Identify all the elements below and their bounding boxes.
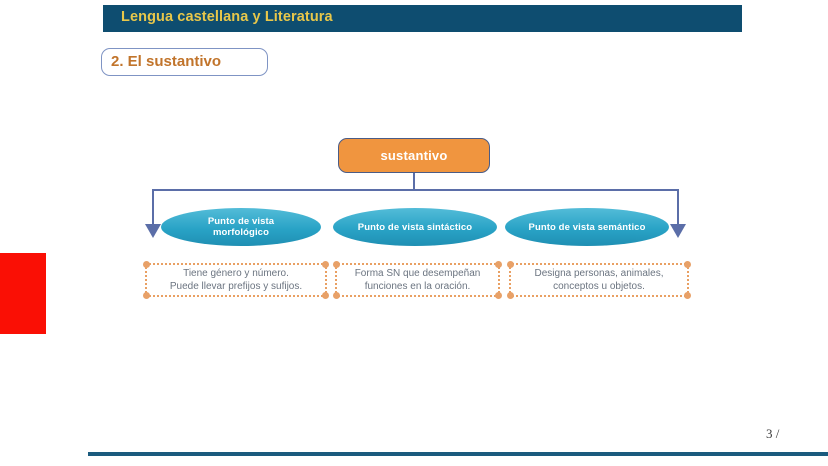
branch-detail-line1: Designa personas, animales, (535, 268, 664, 279)
detail-corner-dot (507, 261, 514, 268)
branch-ellipse-sintactico: Punto de vista sintáctico (333, 208, 497, 246)
red-marker-block (0, 253, 46, 334)
branch-ellipse-label-line1: Punto de vista semántico (529, 222, 646, 233)
branch-ellipse-label: Punto de vista morfológico (208, 216, 274, 238)
branch-detail-semantico: Designa personas, animales, conceptos u … (509, 263, 689, 297)
detail-corner-dot (507, 292, 514, 299)
detail-corner-dot (143, 261, 150, 268)
page-number-indicator: 3 / (766, 426, 779, 442)
branch-ellipse-semantico: Punto de vista semántico (505, 208, 669, 246)
branch-detail-text: Forma SN que desempeñan funciones en la … (355, 267, 481, 293)
detail-corner-dot (333, 261, 340, 268)
branch-ellipse-morfologico: Punto de vista morfológico (161, 208, 321, 246)
section-title-box: 2. El sustantivo (101, 48, 268, 76)
branch-ellipse-label-line1: Punto de vista sintáctico (358, 222, 472, 233)
connector-horizontal-bus (152, 189, 679, 191)
detail-corner-dot (322, 292, 329, 299)
connector-stem (413, 173, 415, 190)
detail-corner-dot (684, 261, 691, 268)
branch-detail-line1: Forma SN que desempeñan (355, 268, 481, 279)
arrow-down-right-icon (670, 224, 686, 238)
diagram-root-node: sustantivo (338, 138, 490, 173)
arrow-down-left-icon (145, 224, 161, 238)
detail-corner-dot (495, 261, 502, 268)
connector-left-drop (152, 189, 154, 225)
branch-detail-line2: funciones en la oración. (365, 281, 471, 292)
branch-detail-text: Designa personas, animales, conceptos u … (535, 267, 664, 293)
slide-header-band: Lengua castellana y Literatura (103, 5, 742, 32)
detail-corner-dot (333, 292, 340, 299)
branch-ellipse-label: Punto de vista semántico (529, 222, 646, 233)
connector-right-drop (677, 189, 679, 225)
diagram-root-node-label: sustantivo (339, 148, 489, 163)
slide-viewer: Lengua castellana y Literatura 2. El sus… (0, 0, 828, 466)
detail-corner-dot (495, 292, 502, 299)
branch-detail-text: Tiene género y número. Puede llevar pref… (170, 267, 302, 293)
branch-ellipse-label-line2: morfológico (213, 227, 269, 238)
branch-ellipse-label: Punto de vista sintáctico (358, 222, 472, 233)
detail-corner-dot (143, 292, 150, 299)
branch-detail-line2: Puede llevar prefijos y sufijos. (170, 281, 302, 292)
slide-bottom-rule (88, 452, 828, 456)
detail-corner-dot (684, 292, 691, 299)
branch-detail-sintactico: Forma SN que desempeñan funciones en la … (335, 263, 500, 297)
branch-ellipse-label-line1: Punto de vista (208, 216, 274, 227)
branch-detail-line1: Tiene género y número. (183, 268, 289, 279)
section-title-label: 2. El sustantivo (111, 53, 221, 70)
detail-corner-dot (322, 261, 329, 268)
slide-canvas: Lengua castellana y Literatura 2. El sus… (80, 0, 746, 458)
branch-detail-line2: conceptos u objetos. (553, 281, 645, 292)
slide-header-title: Lengua castellana y Literatura (121, 9, 333, 25)
branch-detail-morfologico: Tiene género y número. Puede llevar pref… (145, 263, 327, 297)
